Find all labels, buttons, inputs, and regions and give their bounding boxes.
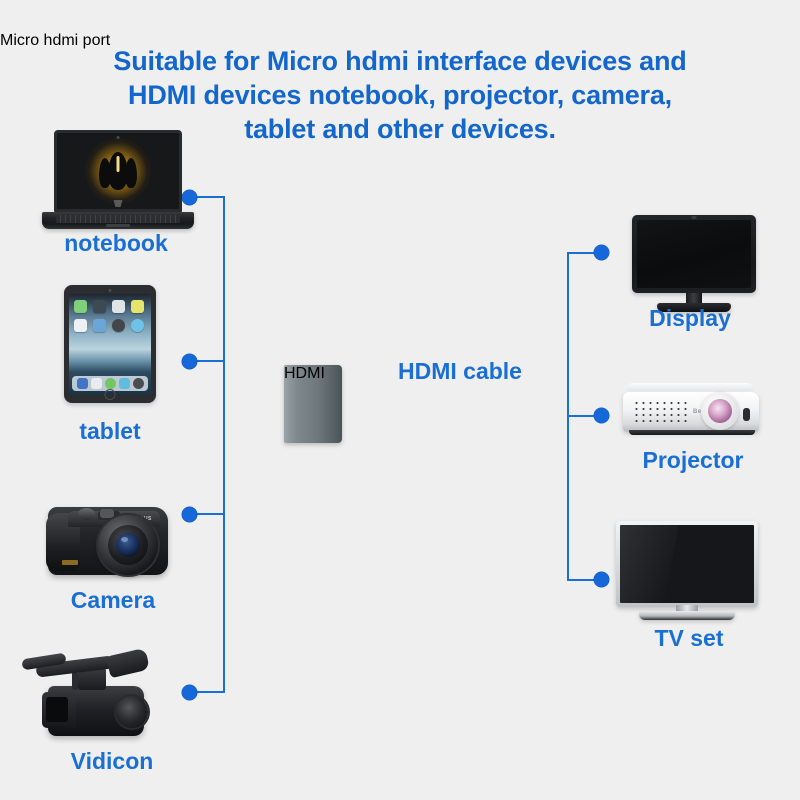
connector-dot-display [594, 245, 609, 260]
camera-lens [98, 515, 158, 575]
tablet-body [64, 285, 156, 403]
device-label-tvset: TV set [580, 625, 798, 652]
tablet-app-icon [93, 300, 106, 313]
heading-line-1: Suitable for Micro hdmi interface device… [0, 44, 800, 78]
camcorder-viewfinder [106, 648, 150, 678]
laptop-brand-logo-icon [114, 200, 123, 207]
laptop-wallpaper-emblem [108, 152, 128, 190]
tablet-camera-icon [109, 289, 112, 292]
left-bracket-vertical-line [223, 196, 225, 693]
laptop-keyboard [56, 215, 180, 223]
projector-base [629, 430, 755, 435]
projector-lens [701, 392, 739, 430]
monitor-icon [632, 215, 756, 315]
tablet-app-icon [74, 300, 87, 313]
laptop-icon [42, 130, 194, 230]
tablet-icon [64, 285, 156, 403]
adapter-hdmi-text: HDMI [284, 365, 325, 382]
projector-vent-grille [633, 400, 687, 426]
connector-dot-tablet [182, 354, 197, 369]
tablet-app-icon [74, 319, 87, 332]
device-label-projector: Projector [580, 447, 800, 474]
laptop-trackpad [106, 224, 130, 227]
hdmi-cable-icon [0, 0, 180, 32]
heading-line-2: HDMI devices notebook, projector, camera… [0, 78, 800, 112]
camcorder-body [48, 686, 144, 736]
camera-badge [62, 560, 78, 565]
monitor-indicator-icon [692, 216, 697, 219]
tablet-app-icon [131, 300, 144, 313]
camera-icon: OLYMPUS [42, 493, 174, 585]
camera-lens-glass [116, 533, 140, 557]
tablet-app-icon [93, 319, 106, 332]
tablet-app-icon [131, 319, 144, 332]
device-label-camera: Camera [0, 587, 226, 614]
adapter-shell: HDMI [284, 365, 342, 443]
laptop-base [42, 212, 194, 229]
tablet-screen [69, 294, 151, 394]
tv-stand-base [639, 611, 735, 620]
camera-lens-mid [108, 525, 148, 565]
device-label-vidicon: Vidicon [0, 748, 224, 775]
projector-icon: BenQ [623, 386, 759, 441]
tablet-app-icon [112, 300, 125, 313]
projector-top-cover [627, 383, 753, 391]
infographic-canvas: Suitable for Micro hdmi interface device… [0, 0, 800, 800]
tablet-home-button-icon [105, 389, 116, 400]
device-label-tablet: tablet [0, 418, 220, 445]
connector-dot-camera [182, 507, 197, 522]
laptop-screen [54, 130, 182, 212]
tablet-dock-icon [119, 378, 130, 389]
projector-focus-knob [743, 408, 750, 421]
tablet-dock-icon [77, 378, 88, 389]
camera-mode-dial [78, 508, 95, 520]
monitor-bezel [632, 215, 756, 293]
camcorder-lens-hood [42, 692, 76, 728]
tablet-app-grid [74, 300, 146, 332]
camera-shutter-button [100, 509, 114, 518]
tv-bezel [616, 521, 758, 607]
micro-hdmi-adapter: HDMI [238, 365, 348, 445]
connector-dot-tvset [594, 572, 609, 587]
connector-dot-projector [594, 408, 609, 423]
tablet-dock-icon [133, 378, 144, 389]
projector-lens-glass [708, 399, 732, 423]
camcorder-icon [30, 650, 170, 742]
hdmi-cable-label: HDMI cable [398, 358, 522, 385]
device-label-display: Display [580, 305, 800, 332]
connector-dot-vidicon [182, 685, 197, 700]
camcorder-lens [116, 696, 148, 728]
monitor-screen [637, 220, 751, 288]
tablet-dock-icon [105, 378, 116, 389]
tablet-dock-icon [91, 378, 102, 389]
tv-screen [620, 525, 754, 603]
adapter-hdmi-label: HDMI [284, 365, 342, 383]
device-label-notebook: notebook [0, 230, 232, 257]
television-icon [616, 521, 758, 621]
tablet-app-icon [112, 319, 125, 332]
